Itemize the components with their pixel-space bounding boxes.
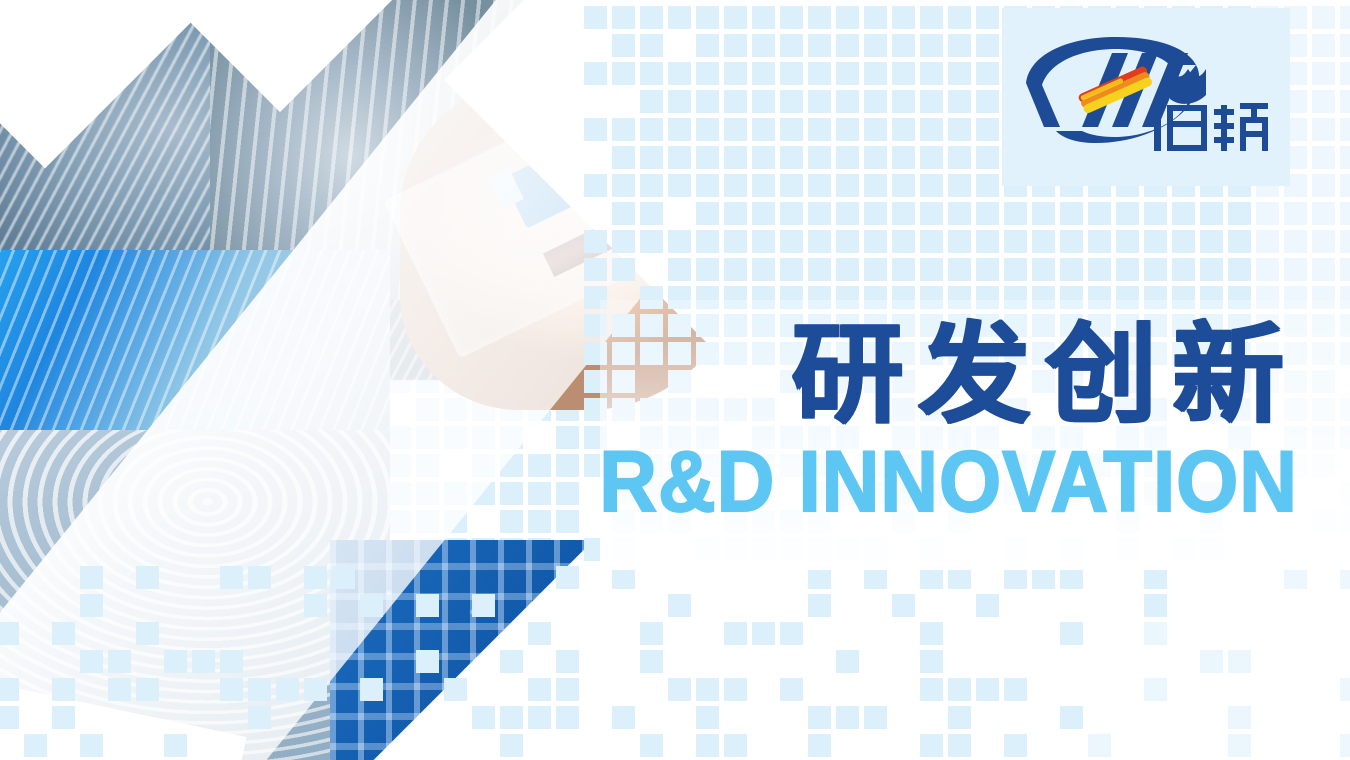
- logo-plate[interactable]: [1002, 8, 1290, 186]
- page-title-cn: 研发创新: [0, 318, 1298, 431]
- rd-innovation-banner: 研发创新 R&D INNOVATION: [0, 0, 1350, 760]
- page-subtitle-en: R&D INNOVATION: [91, 447, 1298, 518]
- headline-block: 研发创新 R&D INNOVATION: [0, 318, 1350, 518]
- hengrui-logo: [1020, 31, 1272, 163]
